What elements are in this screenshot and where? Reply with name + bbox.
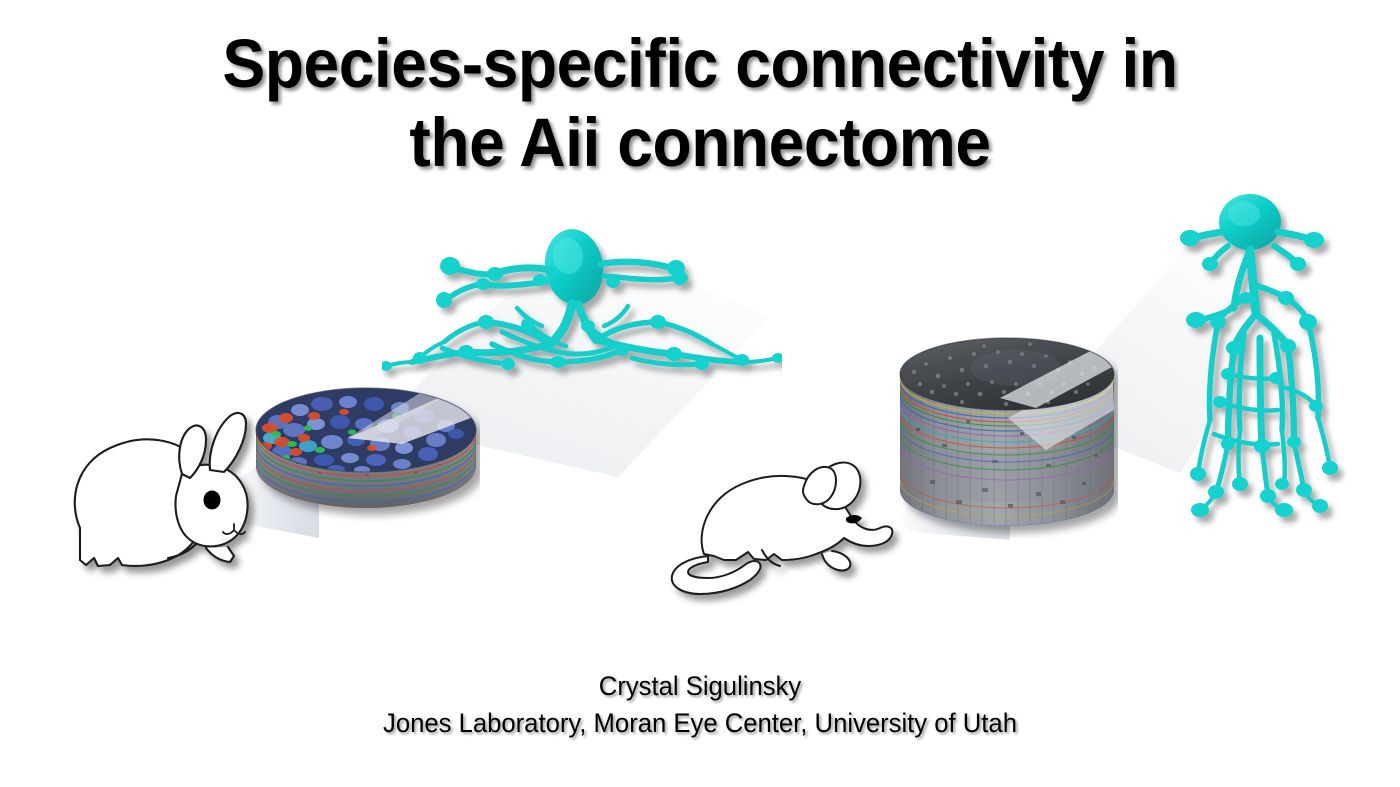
presenter-name: Crystal Sigulinsky [35,668,1365,705]
rabbit-aii-neuron [382,212,782,392]
mouse-aii-neuron [1176,188,1376,528]
page-title: Species-specific connectivity in the Aii… [0,24,1400,182]
title-line-2: the Aii connectome [49,103,1351,182]
mouse-connectome-cylinder [896,332,1118,538]
rabbit-connectome-disc [252,382,480,522]
affiliation: Jones Laboratory, Moran Eye Center, Univ… [35,705,1365,742]
title-line-1: Species-specific connectivity in [49,24,1351,103]
mouse-icon [666,446,916,606]
slide-canvas: Species-specific connectivity in the Aii… [0,0,1400,787]
byline: Crystal Sigulinsky Jones Laboratory, Mor… [0,668,1400,742]
